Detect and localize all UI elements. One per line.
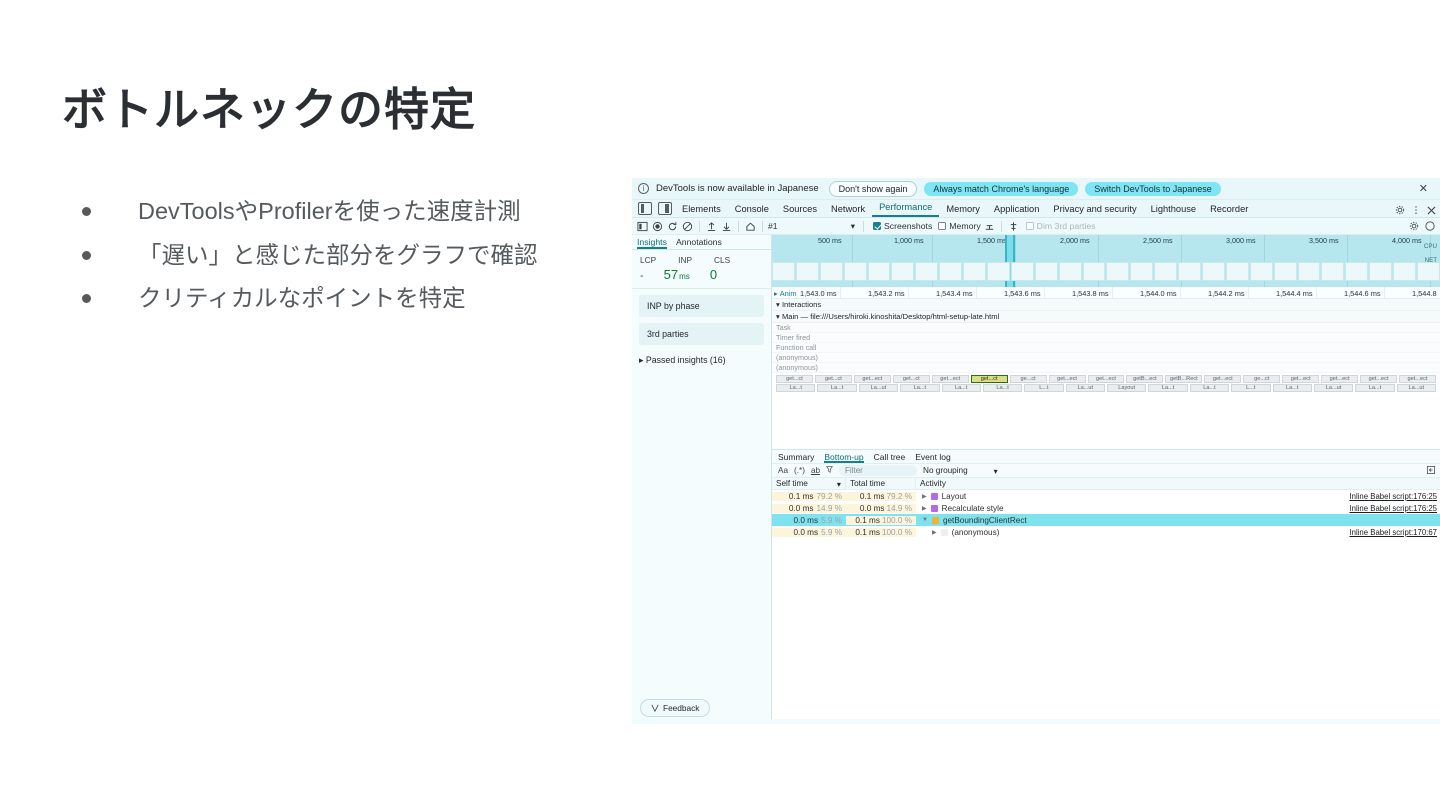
filmstrip-thumb[interactable]	[1178, 262, 1201, 281]
activity-color-swatch	[932, 517, 939, 524]
bullet-dot-icon	[82, 207, 91, 216]
filmstrip-thumb[interactable]	[891, 262, 914, 281]
activity-label: getBoundingClientRect	[943, 516, 1027, 525]
help-icon[interactable]	[1425, 221, 1435, 231]
switch-to-japanese-button[interactable]: Switch DevTools to Japanese	[1085, 182, 1221, 196]
overview-tick: 3,000 ms	[1226, 236, 1256, 245]
activity-label: Layout	[942, 492, 967, 501]
chevron-right-icon[interactable]: ▶	[922, 505, 927, 512]
self-time-value: 0.0 ms	[793, 516, 818, 525]
feedback-icon	[651, 704, 659, 712]
screenshots-label: Screenshots	[884, 221, 932, 231]
flame-block[interactable]: La...t	[1273, 384, 1312, 392]
total-time-pct: 14.9 %	[887, 504, 913, 513]
details-tabs: Summary Bottom-up Call tree Event log	[772, 450, 1440, 464]
dim-3rd-parties-checkbox: Dim 3rd parties	[1026, 221, 1096, 231]
overview-tick: 500 ms	[818, 236, 842, 245]
overview-tick: 1,500 ms	[977, 236, 1007, 245]
filmstrip-thumb[interactable]	[1250, 262, 1273, 281]
ruler-tick: 1,543.2 ms	[868, 289, 905, 298]
flame-block[interactable]: get...ect	[1204, 375, 1241, 383]
flame-block[interactable]: La...ut	[859, 384, 898, 392]
flame-block[interactable]: get...ect	[1088, 375, 1125, 383]
cell-activity: ▶LayoutInline Babel script:176:25	[916, 492, 1440, 501]
cell-self-time: 0.1 ms79.2 %	[772, 492, 846, 501]
filmstrip-thumb[interactable]	[1393, 262, 1416, 281]
filmstrip-thumb[interactable]	[915, 262, 938, 281]
flame-block[interactable]: L...t	[1231, 384, 1270, 392]
column-header-self-time[interactable]: Self time ▾	[772, 478, 846, 489]
total-time-pct: 79.2 %	[887, 492, 913, 501]
ruler-tick: 1,544.2 ms	[1208, 289, 1245, 298]
flame-block[interactable]: La...ut	[1397, 384, 1436, 392]
overview-tick: 2,000 ms	[1060, 236, 1090, 245]
total-time-pct: 100.0 %	[882, 516, 912, 525]
chevron-right-icon[interactable]: ▶	[922, 493, 927, 500]
flame-block[interactable]: get...ect	[1360, 375, 1397, 383]
tab-call-tree[interactable]: Call tree	[874, 450, 906, 463]
bullet-dot-icon	[82, 251, 91, 260]
session-select[interactable]: #1 ▾	[768, 221, 858, 232]
list-item-label: DevToolsやProfilerを使った速度計測	[138, 196, 521, 227]
cell-activity: ▶Recalculate styleInline Babel script:17…	[916, 504, 1440, 513]
tab-recorder[interactable]: Recorder	[1203, 202, 1255, 217]
cell-self-time: 0.0 ms5.9 %	[772, 516, 846, 525]
bullet-dot-icon	[82, 294, 91, 303]
filmstrip-thumb[interactable]	[1154, 262, 1177, 281]
flame-block[interactable]: Layout	[1107, 384, 1146, 392]
cell-self-time: 0.0 ms14.9 %	[772, 504, 846, 513]
bullet-list: DevToolsやProfilerを使った速度計測 「遅い」と感じた部分をグラフ…	[82, 196, 622, 327]
overview-tick: 1,000 ms	[894, 236, 924, 245]
checkbox-box	[873, 222, 881, 230]
flame-block[interactable]: getB...ect	[1126, 375, 1163, 383]
filmstrip-thumb[interactable]	[868, 262, 891, 281]
timeline-overview[interactable]: 500 ms 1,000 ms 1,500 ms 2,000 ms 2,500 …	[772, 235, 1440, 287]
cell-total-time: 0.1 ms79.2 %	[846, 492, 916, 501]
chevron-down-icon: ▾	[776, 312, 780, 321]
grouping-value: No grouping	[923, 466, 968, 475]
details-filter-bar: Aa (.*) ab Filter No grouping ▾	[772, 464, 1440, 478]
regex-button[interactable]: (.*)	[794, 466, 805, 475]
filmstrip-thumb[interactable]	[1417, 262, 1440, 281]
flame-block[interactable]: ge...ct	[1243, 375, 1280, 383]
filmstrip-thumb[interactable]	[1226, 262, 1249, 281]
home-icon[interactable]	[744, 220, 757, 233]
checkbox-box	[938, 222, 946, 230]
divider	[863, 221, 864, 232]
devtools-window: i DevTools is now available in Japanese …	[632, 178, 1440, 724]
feedback-button[interactable]: Feedback	[640, 699, 710, 717]
overview-label-cpu: CPU	[1424, 243, 1437, 250]
cpu-throttle-icon[interactable]	[983, 220, 996, 233]
tab-elements[interactable]: Elements	[675, 202, 728, 217]
ruler-tick: 1,544.0 ms	[1140, 289, 1177, 298]
divider	[762, 221, 763, 232]
details-panel: Summary Bottom-up Call tree Event log Aa…	[772, 449, 1440, 538]
self-time-pct: 5.9 %	[821, 516, 842, 525]
filter-funnel-icon	[826, 466, 833, 475]
clear-icon[interactable]	[681, 220, 694, 233]
flame-chart[interactable]: ▾ Interactions ▾ Main — file:///Users/hi…	[772, 299, 1440, 449]
save-profile-icon[interactable]	[720, 220, 733, 233]
flame-block[interactable]: La...t	[942, 384, 981, 392]
filmstrip-thumb[interactable]	[1035, 262, 1058, 281]
flame-block[interactable]: get...ect	[1321, 375, 1358, 383]
cell-total-time: 0.1 ms100.0 %	[846, 528, 916, 537]
sidebar-tabs: Insights Annotations	[632, 235, 771, 250]
tab-console[interactable]: Console	[728, 202, 776, 217]
cell-total-time: 0.0 ms14.9 %	[846, 504, 916, 513]
total-time-value: 0.1 ms	[855, 528, 880, 537]
flame-block[interactable]: La...t	[900, 384, 939, 392]
expand-details-icon[interactable]	[1427, 466, 1440, 476]
total-time-value: 0.1 ms	[855, 516, 880, 525]
total-time-value: 0.1 ms	[860, 492, 885, 501]
ruler-tick: 1,543.6 ms	[1004, 289, 1041, 298]
chevron-right-icon[interactable]: ▶	[932, 529, 937, 536]
language-banner: i DevTools is now available in Japanese …	[632, 178, 1440, 200]
timeline-pane: 500 ms 1,000 ms 1,500 ms 2,000 ms 2,500 …	[772, 235, 1440, 719]
list-item-label: 「遅い」と感じた部分をグラフで確認	[138, 240, 538, 271]
table-row[interactable]: 0.0 ms14.9 %0.0 ms14.9 %▶Recalculate sty…	[772, 502, 1440, 514]
list-item: クリティカルなポイントを特定	[82, 283, 622, 314]
grouping-select[interactable]: No grouping ▾	[923, 466, 998, 476]
list-item-label: クリティカルなポイントを特定	[138, 283, 466, 314]
filmstrip-thumb[interactable]	[1345, 262, 1368, 281]
tab-network[interactable]: Network	[824, 202, 872, 217]
self-time-pct: 79.2 %	[817, 492, 843, 501]
always-match-language-button[interactable]: Always match Chrome's language	[924, 182, 1078, 196]
filmstrip-thumb[interactable]	[1011, 262, 1034, 281]
filmstrip-thumb[interactable]	[963, 262, 986, 281]
chevron-right-icon: ▸	[774, 289, 778, 298]
tab-sources[interactable]: Sources	[776, 202, 824, 217]
sidebar-toggle-icon[interactable]	[636, 220, 649, 233]
flame-block[interactable]: get...ct	[776, 375, 813, 383]
flame-block[interactable]: get...ct	[815, 375, 852, 383]
filmstrip-thumb[interactable]	[1106, 262, 1129, 281]
ruler-tick: 1,543.8 ms	[1072, 289, 1109, 298]
checkbox-box	[1026, 222, 1034, 230]
filmstrip-thumb[interactable]	[844, 262, 867, 281]
filter-input[interactable]: Filter	[839, 465, 917, 476]
column-label: Self time	[776, 479, 808, 488]
gear-icon[interactable]	[1395, 205, 1405, 215]
ruler-tick: 1,543.4 ms	[936, 289, 973, 298]
passed-insights-toggle[interactable]: ▸ Passed insights (16)	[639, 355, 764, 366]
flame-block[interactable]: La...t	[1190, 384, 1229, 392]
total-time-pct: 100.0 %	[882, 528, 912, 537]
flame-block[interactable]: La...ut	[1314, 384, 1353, 392]
flame-row-anonymous[interactable]: (anonymous)	[772, 363, 1440, 373]
chevron-right-icon: ▸	[639, 355, 643, 365]
tab-event-log[interactable]: Event log	[915, 450, 950, 463]
activity-color-swatch	[931, 493, 938, 500]
filmstrip-thumb[interactable]	[1274, 262, 1297, 281]
filmstrip-thumb[interactable]	[1298, 262, 1321, 281]
flame-row-task[interactable]: Task	[772, 323, 1440, 333]
flame-blocks-row-2: La...tLa...tLa...utLa...tLa...tLa...tL..…	[772, 383, 1440, 392]
screenshots-checkbox[interactable]: Screenshots	[873, 221, 932, 231]
tab-memory[interactable]: Memory	[939, 202, 987, 217]
cell-activity: ▼getBoundingClientRect	[916, 516, 1440, 525]
record-icon[interactable]	[651, 220, 664, 233]
activity-label: (anonymous)	[952, 528, 1000, 537]
flame-block-selected[interactable]: get...ct	[971, 375, 1008, 383]
flame-block[interactable]: get...ect	[1399, 375, 1436, 383]
filmstrip-thumb[interactable]	[1321, 262, 1344, 281]
column-header-total-time[interactable]: Total time	[846, 478, 916, 489]
filmstrip-thumb[interactable]	[820, 262, 843, 281]
kebab-menu-icon[interactable]	[1412, 205, 1420, 215]
filmstrip-thumb[interactable]	[796, 262, 819, 281]
overview-tick: 4,000 ms	[1392, 236, 1422, 245]
sort-descending-icon: ▾	[837, 479, 841, 489]
timeline-ruler: ▸ Anim 1,543.0 ms 1,543.2 ms 1,543.4 ms …	[772, 287, 1440, 299]
overview-tick: 2,500 ms	[1143, 236, 1173, 245]
column-header-activity[interactable]: Activity	[916, 478, 1440, 489]
whole-word-button[interactable]: ab	[811, 466, 820, 475]
metric-value-lcp: -	[640, 270, 644, 282]
table-row[interactable]: 0.1 ms79.2 %0.1 ms79.2 %▶LayoutInline Ba…	[772, 490, 1440, 502]
anim-label: Anim	[780, 289, 797, 298]
flame-block[interactable]: get...ect	[932, 375, 969, 383]
page-title: ボトルネックの特定	[62, 82, 476, 138]
chevron-down-icon: ▾	[994, 466, 998, 476]
flame-block[interactable]: get...ect	[1049, 375, 1086, 383]
source-link[interactable]: Inline Babel script:176:25	[1349, 492, 1437, 501]
chevron-down-icon: ▾	[776, 300, 780, 309]
table-row[interactable]: 0.0 ms5.9 %0.1 ms100.0 %▶(anonymous)Inli…	[772, 526, 1440, 538]
insight-card-3rd-parties[interactable]: 3rd parties	[639, 323, 764, 345]
filmstrip-thumb[interactable]	[939, 262, 962, 281]
flame-block[interactable]: getB...Rect	[1165, 375, 1202, 383]
flame-block[interactable]: La...t	[817, 384, 856, 392]
tab-annotations[interactable]: Annotations	[676, 235, 722, 249]
capture-settings-icon[interactable]	[1409, 221, 1419, 231]
info-icon: i	[638, 183, 649, 194]
passed-insights-label: Passed insights (16)	[646, 355, 726, 365]
source-link[interactable]: Inline Babel script:170:67	[1349, 528, 1437, 537]
filmstrip-thumb[interactable]	[1059, 262, 1082, 281]
self-time-value: 0.0 ms	[789, 504, 814, 513]
reload-and-record-icon[interactable]	[666, 220, 679, 233]
activity-color-swatch	[931, 505, 938, 512]
close-icon[interactable]: ✕	[1413, 182, 1434, 195]
list-item: 「遅い」と感じた部分をグラフで確認	[82, 240, 622, 271]
track-group-interactions[interactable]: ▾ Interactions	[772, 299, 1440, 311]
self-time-value: 0.1 ms	[789, 492, 814, 501]
panel-tab-strip: Elements Console Sources Network Perform…	[632, 200, 1440, 218]
flame-row-anonymous[interactable]: (anonymous)	[772, 353, 1440, 363]
tab-application[interactable]: Application	[987, 202, 1046, 217]
memory-label: Memory	[949, 221, 980, 231]
divider	[738, 221, 739, 232]
overview-filmstrip	[772, 262, 1440, 281]
filmstrip-thumb[interactable]	[987, 262, 1010, 281]
track-group-label: Main — file:///Users/hiroki.kinoshita/De…	[782, 312, 999, 321]
tab-insights[interactable]: Insights	[637, 235, 667, 249]
inspect-element-icon[interactable]	[638, 202, 652, 215]
table-row[interactable]: 0.0 ms5.9 %0.1 ms100.0 %▼getBoundingClie…	[772, 514, 1440, 526]
flame-row-function-call[interactable]: Function call	[772, 343, 1440, 353]
cell-activity: ▶(anonymous)Inline Babel script:170:67	[916, 528, 1440, 537]
network-throttle-icon[interactable]	[1007, 220, 1020, 233]
filmstrip-thumb[interactable]	[1083, 262, 1106, 281]
load-profile-icon[interactable]	[705, 220, 718, 233]
ruler-tick: 1,544.6 ms	[1344, 289, 1381, 298]
insight-card-inp-by-phase[interactable]: INP by phase	[639, 295, 764, 317]
divider	[699, 221, 700, 232]
table-body: 0.1 ms79.2 %0.1 ms79.2 %▶LayoutInline Ba…	[772, 490, 1440, 538]
metric-value-cls: 0	[710, 267, 717, 282]
metric-label-inp: INP	[678, 255, 692, 265]
tab-summary[interactable]: Summary	[778, 450, 814, 463]
filmstrip-thumb[interactable]	[772, 262, 795, 281]
list-item: DevToolsやProfilerを使った速度計測	[82, 196, 622, 227]
tab-privacy-and-security[interactable]: Privacy and security	[1046, 202, 1143, 217]
flame-block[interactable]: La...t	[983, 384, 1022, 392]
activity-label: Recalculate style	[942, 504, 1004, 513]
self-time-pct: 5.9 %	[821, 528, 842, 537]
overview-tick: 3,500 ms	[1309, 236, 1339, 245]
self-time-value: 0.0 ms	[793, 528, 818, 537]
session-value: #1	[768, 221, 777, 231]
table-header: Self time ▾ Total time Activity	[772, 478, 1440, 490]
divider	[1001, 221, 1002, 232]
device-toolbar-icon[interactable]	[658, 202, 672, 215]
match-case-button[interactable]: Aa	[778, 466, 788, 475]
flame-block[interactable]: get...ect	[1282, 375, 1319, 383]
animations-track[interactable]: ▸ Anim	[772, 287, 797, 299]
tab-lighthouse[interactable]: Lighthouse	[1144, 202, 1204, 217]
chevron-down-icon: ▾	[851, 221, 855, 232]
flame-blocks-row-1: get...ctget...ctget...ectget...ctget...e…	[772, 373, 1440, 383]
flame-block[interactable]: La...t	[1148, 384, 1187, 392]
tab-performance[interactable]: Performance	[872, 200, 939, 217]
close-devtools-icon[interactable]	[1427, 206, 1436, 215]
memory-checkbox[interactable]: Memory	[938, 221, 980, 231]
performance-toolbar: #1 ▾ Screenshots Memory Dim 3rd parties	[632, 218, 1440, 235]
dont-show-again-button[interactable]: Don't show again	[829, 181, 918, 197]
metric-unit-inp: ms	[679, 272, 690, 281]
feedback-label: Feedback	[663, 703, 699, 713]
flame-row-timer-fired[interactable]: Timer fired	[772, 333, 1440, 343]
flame-block[interactable]: La...ut	[1066, 384, 1105, 392]
activity-color-swatch	[941, 529, 948, 536]
self-time-pct: 14.9 %	[817, 504, 843, 513]
flame-block[interactable]: La...t	[776, 384, 815, 392]
chevron-down-icon[interactable]: ▼	[922, 517, 928, 523]
insights-sidebar: Insights Annotations LCP INP CLS - 57 ms…	[632, 235, 772, 719]
flame-block[interactable]: get...ect	[854, 375, 891, 383]
flame-block[interactable]: ge...ct	[1010, 375, 1047, 383]
ruler-tick: 1,543.0 ms	[800, 289, 837, 298]
metric-value-inp: 57	[664, 267, 678, 282]
core-web-vitals: LCP INP CLS - 57 ms 0	[632, 250, 771, 289]
metric-label-lcp: LCP	[640, 255, 656, 265]
tab-bottom-up[interactable]: Bottom-up	[824, 450, 863, 463]
main-split: Insights Annotations LCP INP CLS - 57 ms…	[632, 235, 1440, 719]
metric-label-cls: CLS	[714, 255, 730, 265]
banner-message: DevTools is now available in Japanese	[656, 183, 819, 194]
flame-block[interactable]: get...ct	[893, 375, 930, 383]
track-group-main[interactable]: ▾ Main — file:///Users/hiroki.kinoshita/…	[772, 311, 1440, 323]
total-time-value: 0.0 ms	[860, 504, 885, 513]
dim-label: Dim 3rd parties	[1037, 221, 1096, 231]
flame-block[interactable]: La...t	[1355, 384, 1394, 392]
track-group-label: Interactions	[782, 300, 821, 309]
cell-total-time: 0.1 ms100.0 %	[846, 516, 916, 525]
filmstrip-thumb[interactable]	[1130, 262, 1153, 281]
source-link[interactable]: Inline Babel script:176:25	[1349, 504, 1437, 513]
cell-self-time: 0.0 ms5.9 %	[772, 528, 846, 537]
ruler-tick: 1,544.4 ms	[1276, 289, 1313, 298]
filmstrip-thumb[interactable]	[1369, 262, 1392, 281]
filmstrip-thumb[interactable]	[1202, 262, 1225, 281]
flame-block[interactable]: L...t	[1024, 384, 1063, 392]
